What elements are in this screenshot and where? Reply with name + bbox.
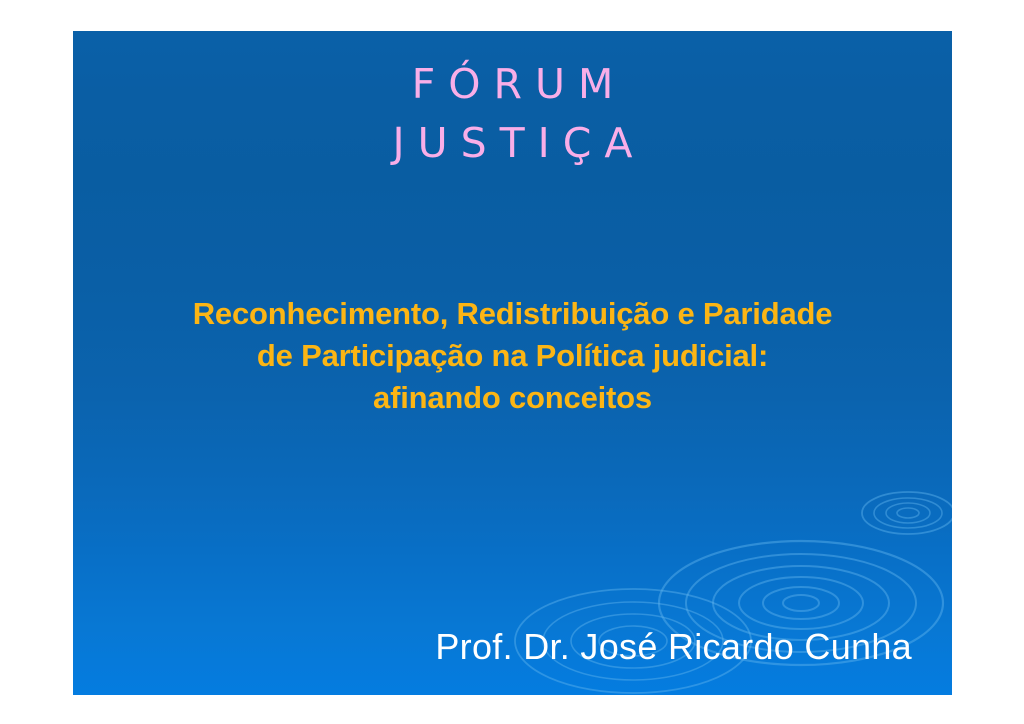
slide-title-line-1: Reconhecimento, Redistribuição e Paridad… [73,293,952,335]
slide-title-line-2: de Participação na Política judicial: [73,335,952,377]
brand-line-1: FÓRUM [412,60,627,108]
presenter-name: Prof. Dr. José Ricardo Cunha [435,623,912,671]
presentation-slide: FÓRUM JUSTIÇA Reconhecimento, Redistribu… [73,31,952,695]
slide-page: FÓRUM JUSTIÇA Reconhecimento, Redistribu… [0,0,1024,724]
brand-line-2: JUSTIÇA [73,116,952,171]
slide-title-line-3: afinando conceitos [73,377,952,419]
brand-wordmark: FÓRUM JUSTIÇA [73,57,952,171]
slide-title: Reconhecimento, Redistribuição e Paridad… [73,293,952,419]
